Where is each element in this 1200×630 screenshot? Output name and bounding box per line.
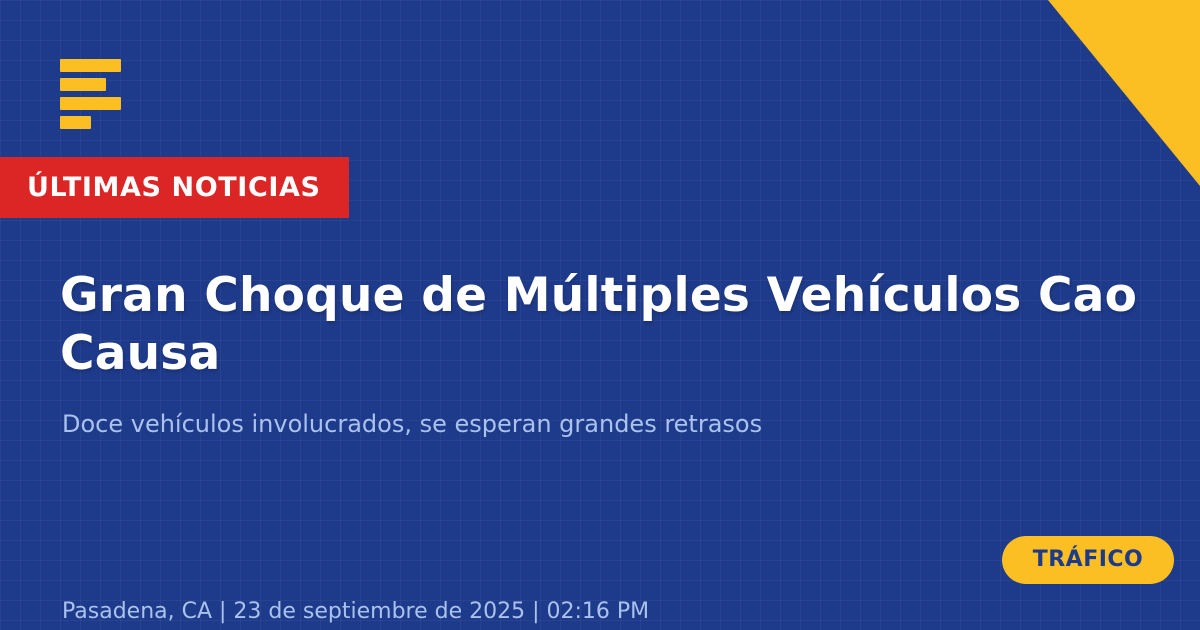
corner-triangle-icon	[1048, 0, 1200, 186]
breaking-news-label: ÚLTIMAS NOTICIAS	[27, 174, 321, 201]
category-badge: TRÁFICO	[1002, 536, 1174, 584]
logo-bar-2	[60, 78, 106, 91]
logo-bar-1	[60, 59, 121, 72]
logo-bar-4	[60, 116, 91, 129]
footer-meta-line: Pasadena, CA | 23 de septiembre de 2025 …	[62, 598, 649, 626]
breaking-news-badge: ÚLTIMAS NOTICIAS	[0, 157, 349, 218]
page-title: Gran Choque de Múltiples Vehículos Cao C…	[60, 267, 1200, 383]
category-badge-label: TRÁFICO	[1033, 549, 1144, 571]
brand-logo	[60, 59, 121, 129]
breaking-news-card: ÚLTIMAS NOTICIAS Gran Choque de Múltiple…	[0, 0, 1200, 630]
logo-bar-3	[60, 97, 121, 110]
headline-subtitle: Doce vehículos involucrados, se esperan …	[62, 408, 762, 440]
